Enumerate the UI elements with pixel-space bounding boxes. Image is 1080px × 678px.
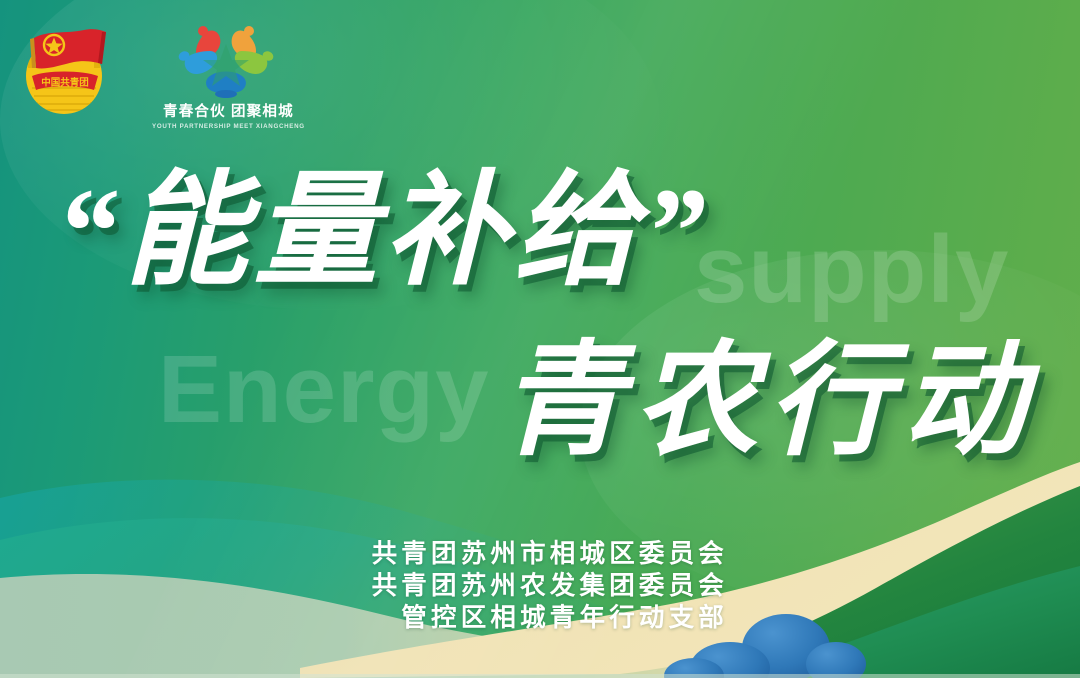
xiangcheng-star-icon <box>170 24 286 98</box>
watermark-energy: Energy <box>158 342 489 438</box>
watermark-supply: supply <box>694 222 1009 318</box>
svg-text:中国共青团: 中国共青团 <box>41 77 89 89</box>
title-line-1: “能量补给” <box>56 160 712 304</box>
xiangcheng-slogan-cn: 青春合伙 团聚相城 <box>152 100 305 121</box>
title-line-2: 青农行动 <box>500 330 1036 474</box>
footer-org-block: 共青团苏州市相城区委员会 共青团苏州农发集团委员会 管控区相城青年行动支部 <box>372 538 728 634</box>
logo-row: 中国共青团 <box>14 18 305 130</box>
xiangcheng-logo: 青春合伙 团聚相城 YOUTH PARTNERSHIP MEET XIANGCH… <box>152 18 305 130</box>
footer-line-1: 共青团苏州市相城区委员会 <box>372 538 728 570</box>
poster-canvas: 中国共青团 <box>0 0 1080 678</box>
xiangcheng-slogan-en: YOUTH PARTNERSHIP MEET XIANGCHENG <box>152 123 305 130</box>
cyl-emblem-icon: 中国共青团 <box>14 18 118 122</box>
footer-line-3: 管控区相城青年行动支部 <box>372 602 728 634</box>
footer-line-2: 共青团苏州农发集团委员会 <box>372 570 728 602</box>
